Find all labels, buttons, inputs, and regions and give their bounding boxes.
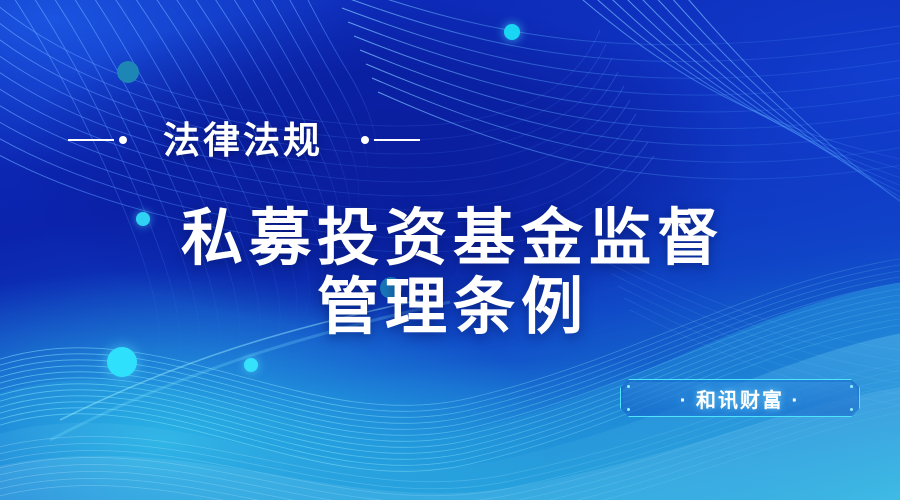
dot-teal-upper-left bbox=[117, 61, 139, 83]
brand-badge: · 和讯财富 · bbox=[620, 379, 860, 417]
title-line-2: 管理条例 bbox=[0, 273, 900, 342]
legal-regulation-banner: 法律法规 私募投资基金监督 管理条例 · 和讯财富 · bbox=[0, 0, 900, 500]
rule-dot-right bbox=[361, 136, 369, 144]
rule-right-decoration bbox=[361, 136, 420, 144]
dot-cyan-large-bottom-left bbox=[107, 347, 137, 377]
rule-line-right bbox=[374, 139, 420, 141]
category-tag-row: 法律法规 bbox=[0, 112, 520, 168]
category-tag-label: 法律法规 bbox=[163, 122, 323, 159]
rule-line-left bbox=[68, 139, 114, 141]
dot-cyan-top bbox=[504, 24, 520, 40]
rule-dot-left bbox=[119, 136, 127, 144]
dot-cyan-small-bottom bbox=[244, 358, 258, 372]
badge-label: · 和讯财富 · bbox=[620, 379, 860, 417]
main-title: 私募投资基金监督 管理条例 bbox=[0, 204, 900, 343]
rule-left-decoration bbox=[68, 136, 127, 144]
title-line-1: 私募投资基金监督 bbox=[0, 204, 900, 273]
